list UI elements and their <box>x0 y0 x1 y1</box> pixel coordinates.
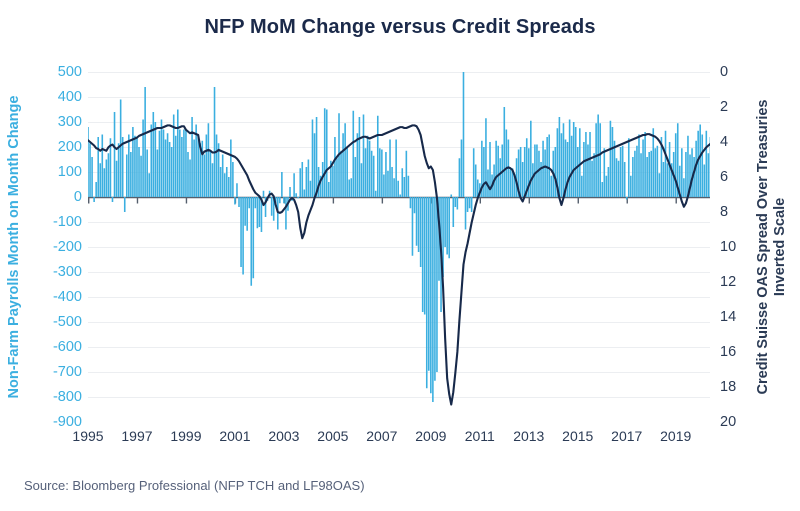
y-axis-left-tick-label: 400 <box>12 89 82 105</box>
y-axis-right-tick-label: 0 <box>720 64 760 80</box>
y-axis-left-tick-label: 500 <box>12 64 82 80</box>
y-axis-left-tick-label: -200 <box>12 239 82 255</box>
source-note: Source: Bloomberg Professional (NFP TCH … <box>24 478 365 493</box>
y-axis-left-tick-label: -800 <box>12 389 82 405</box>
y-axis-left-tick-label: 300 <box>12 114 82 130</box>
y-axis-left-tick-label: -600 <box>12 339 82 355</box>
y-axis-left-tick-label: -100 <box>12 214 82 230</box>
y-axis-right-tick-label: 4 <box>720 134 760 150</box>
y-axis-left-tick-label: -300 <box>12 264 82 280</box>
y-axis-left-title: Non-Farm Payrolls Month on Month Change <box>6 96 22 399</box>
y-axis-right-tick-label: 16 <box>720 344 760 360</box>
y-axis-right-tick-label: 8 <box>720 204 760 220</box>
y-axis-right-tick-label: 14 <box>720 309 760 325</box>
y-axis-left-tick-label: -400 <box>12 289 82 305</box>
y-axis-right-tick-label: 20 <box>720 414 760 430</box>
y-axis-right-title-line1: Credit Suisse OAS Spread Over Treasuries <box>755 100 771 395</box>
chart-figure: NFP MoM Change versus Credit Spreads 500… <box>0 0 800 511</box>
y-axis-left-tick-label: 200 <box>12 139 82 155</box>
y-axis-right-tick-label: 12 <box>720 274 760 290</box>
plot-area <box>88 72 710 422</box>
y-axis-right-title-line2: Inverted Scale <box>772 100 789 395</box>
y-axis-right-title: Credit Suisse OAS Spread Over Treasuries… <box>755 100 789 395</box>
x-axis-tick-label: 2019 <box>646 428 706 444</box>
page-title: NFP MoM Change versus Credit Spreads <box>0 16 800 39</box>
data-series-layer <box>88 72 710 422</box>
y-axis-left-tick-label: -700 <box>12 364 82 380</box>
y-axis-left-tick-label: -500 <box>12 314 82 330</box>
y-axis-right-tick-label: 2 <box>720 99 760 115</box>
y-axis-right-tick-label: 18 <box>720 379 760 395</box>
y-axis-right-tick-label: 6 <box>720 169 760 185</box>
y-axis-left-tick-label: 100 <box>12 164 82 180</box>
y-axis-right-tick-label: 10 <box>720 239 760 255</box>
y-axis-left-tick-label: 0 <box>12 189 82 205</box>
